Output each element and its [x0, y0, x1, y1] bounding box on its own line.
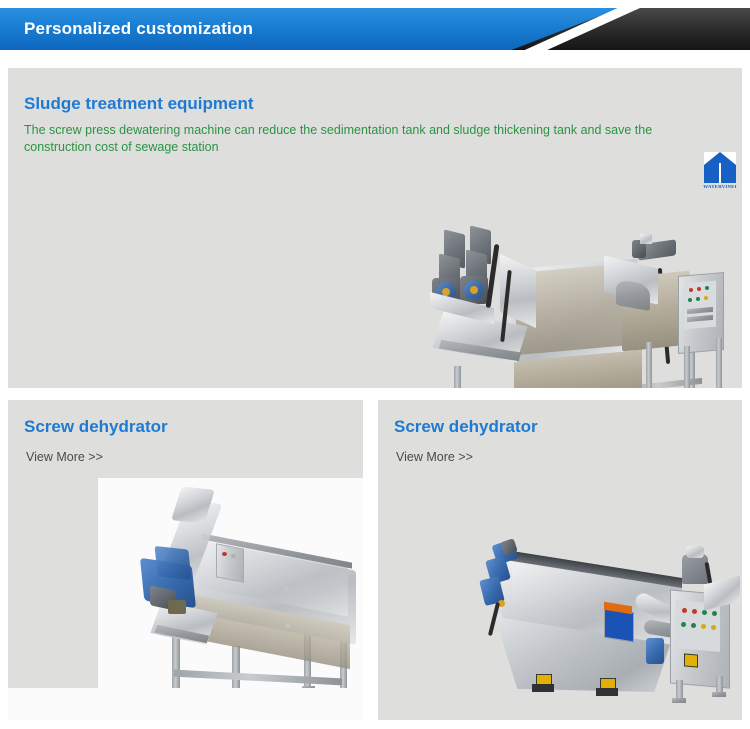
hero-product-card[interactable]: Sludge treatment equipment The screw pre…: [8, 68, 742, 388]
bottom-left-card-title: Screw dehydrator: [24, 417, 168, 437]
watermark-brand-text: WATERVINEI: [702, 184, 738, 189]
hero-card-title: Sludge treatment equipment: [24, 94, 254, 114]
bottom-right-product-image: [458, 518, 742, 714]
bottom-left-product-image: [98, 478, 363, 718]
bottom-left-view-more-link[interactable]: View More >>: [26, 450, 103, 464]
bottom-left-photo-fade: [8, 688, 363, 720]
y-mark-logo-icon: [704, 152, 736, 183]
bottom-right-view-more-link[interactable]: View More >>: [396, 450, 473, 464]
hero-product-image: [426, 226, 726, 388]
bottom-right-card-title: Screw dehydrator: [394, 417, 538, 437]
watermark-logo: WATERVINEI: [704, 152, 736, 189]
page-title: Personalized customization: [24, 8, 253, 50]
page-header-banner: Personalized customization: [0, 8, 750, 50]
hero-card-description: The screw press dewatering machine can r…: [24, 122, 684, 156]
